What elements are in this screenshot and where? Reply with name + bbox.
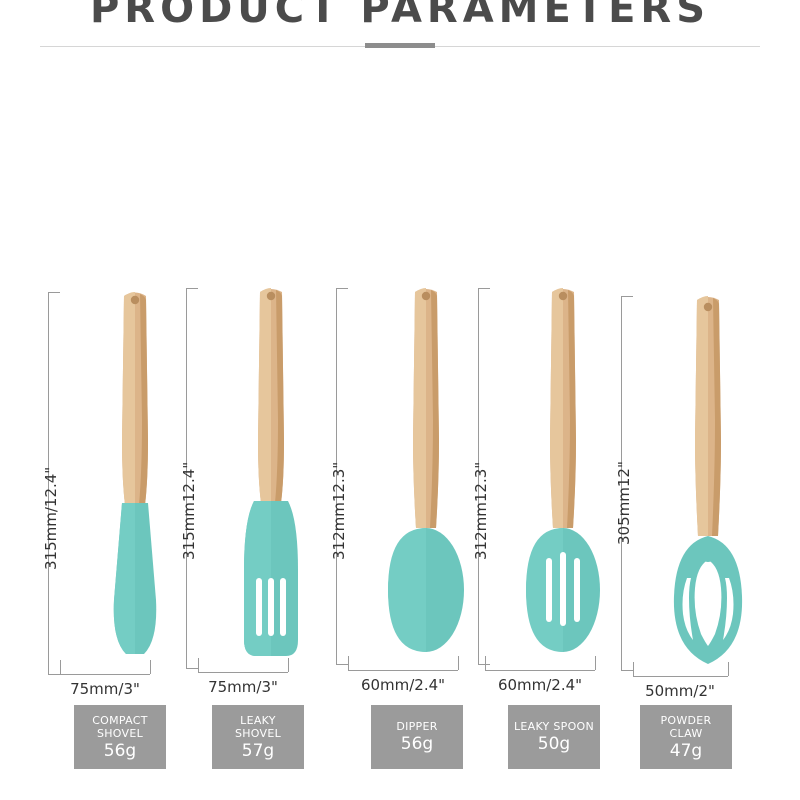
length-tick-bottom-leaky-spoon (478, 664, 490, 665)
spec-plate-leaky-spoon: LEAKY SPOON 50g (508, 705, 600, 769)
spec-plate-weight-dipper: 56g (401, 734, 433, 754)
width-tick-right-leaky-spoon (595, 656, 596, 670)
width-label-leaky-shovel: 75mm/3" (193, 678, 293, 696)
width-tick-right-dipper (458, 656, 459, 670)
length-label-compact-shovel: 315mm/12.4" (42, 467, 60, 570)
spec-plate-leaky-shovel: LEAKY SHOVEL 57g (212, 705, 304, 769)
width-label-compact-shovel: 75mm/3" (55, 680, 155, 698)
length-label-leaky-spoon: 312mm12.3" (472, 462, 490, 560)
spec-plate-weight-compact-shovel: 56g (104, 741, 136, 761)
width-measure-line-leaky-shovel (198, 672, 288, 673)
width-label-dipper: 60mm/2.4" (348, 676, 458, 694)
width-tick-right-powder-claw (728, 662, 729, 676)
length-tick-bottom-dipper (336, 664, 348, 665)
product-parameters-diagram: 315mm/12.4" 75mm/3" COMPACT SHOVEL 56g (0, 0, 800, 800)
utensil-illustration-powder-claw (633, 0, 783, 800)
length-tick-bottom-compact-shovel (48, 674, 60, 675)
width-label-powder-claw: 50mm/2" (630, 682, 730, 700)
length-label-powder-claw: 305mm12" (615, 461, 633, 545)
spec-plate-name-leaky-spoon: LEAKY SPOON (510, 720, 598, 733)
spec-plate-weight-leaky-shovel: 57g (242, 741, 274, 761)
length-tick-top-dipper (336, 288, 348, 289)
length-label-dipper: 312mm12.3" (330, 462, 348, 560)
length-tick-bottom-leaky-shovel (186, 668, 198, 669)
length-tick-top-powder-claw (621, 296, 633, 297)
length-tick-top-leaky-shovel (186, 288, 198, 289)
spec-plate-name-leaky-shovel: LEAKY SHOVEL (212, 714, 304, 740)
product-item-dipper: 312mm12.3" 60mm/2.4" DIPPER 56g (348, 0, 498, 800)
spec-plate-name-powder-claw: POWDER CLAW (640, 714, 732, 740)
width-tick-right-compact-shovel (150, 660, 151, 674)
length-tick-bottom-powder-claw (621, 670, 633, 671)
width-tick-left-dipper (348, 656, 349, 670)
width-measure-line-compact-shovel (60, 674, 150, 675)
spec-plate-powder-claw: POWDER CLAW 47g (640, 705, 732, 769)
product-item-leaky-shovel: 315mm12.4" 75mm/3" LEAKY SHOVEL 57g (198, 0, 348, 800)
width-measure-line-dipper (348, 670, 458, 671)
width-tick-left-leaky-shovel (198, 658, 199, 672)
width-label-leaky-spoon: 60mm/2.4" (485, 676, 595, 694)
length-label-leaky-shovel: 315mm12.4" (180, 462, 198, 560)
length-tick-top-leaky-spoon (478, 288, 490, 289)
product-item-compact-shovel: 315mm/12.4" 75mm/3" COMPACT SHOVEL 56g (60, 0, 210, 800)
length-tick-top-compact-shovel (48, 292, 60, 293)
spec-plate-dipper: DIPPER 56g (371, 705, 463, 769)
spec-plate-compact-shovel: COMPACT SHOVEL 56g (74, 705, 166, 769)
width-tick-left-compact-shovel (60, 660, 61, 674)
spec-plate-name-compact-shovel: COMPACT SHOVEL (74, 714, 166, 740)
product-item-leaky-spoon: 312mm12.3" 60mm/2.4" LEAKY SPOON 50g (490, 0, 640, 800)
spec-plate-weight-leaky-spoon: 50g (538, 734, 570, 754)
spec-plate-name-dipper: DIPPER (392, 720, 441, 733)
product-item-powder-claw: 305mm12" 50mm/2" POWDER CLAW 47g (633, 0, 783, 800)
width-measure-line-powder-claw (633, 676, 728, 677)
width-tick-right-leaky-shovel (288, 658, 289, 672)
width-tick-left-powder-claw (633, 662, 634, 676)
width-measure-line-leaky-spoon (485, 670, 595, 671)
spec-plate-weight-powder-claw: 47g (670, 741, 702, 761)
width-tick-left-leaky-spoon (485, 656, 486, 670)
